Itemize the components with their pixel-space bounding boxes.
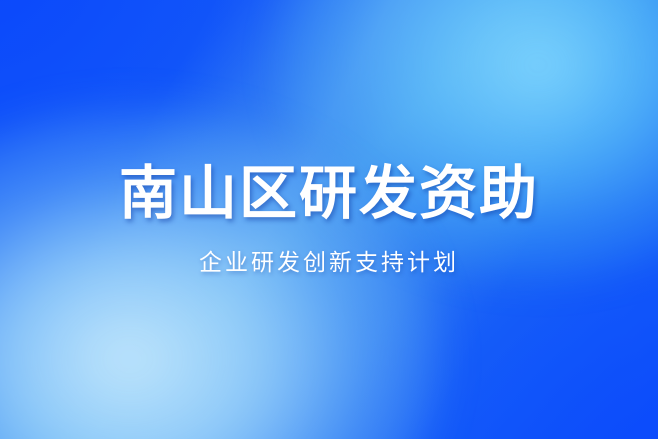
page-title: 南山区研发资助	[119, 165, 539, 223]
hero-content: 南山区研发资助 企业研发创新支持计划	[0, 0, 658, 439]
page-subtitle: 企业研发创新支持计划	[199, 251, 459, 274]
hero-banner: 南山区研发资助 企业研发创新支持计划	[0, 0, 658, 439]
